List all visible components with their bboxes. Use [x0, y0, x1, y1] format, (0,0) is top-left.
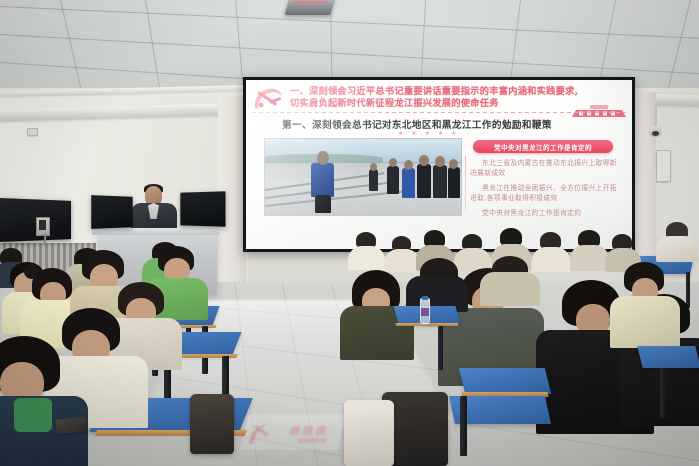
smartphone-on-desk [55, 416, 87, 434]
desk-leg [660, 368, 666, 418]
star-decoration: ★ ★ ★ ★ ★ [398, 130, 460, 137]
wall-sensor-left [27, 128, 38, 136]
desk-leg [686, 272, 690, 308]
backpack-white [344, 400, 394, 466]
photo-figure-main [311, 163, 334, 197]
lectern-top [92, 228, 220, 235]
floor-reflected-slide-logo [240, 414, 347, 450]
body-paragraph-2: 黑龙江在推动全面振兴、全方位振兴上开拓进取,各项事业取得积极成效 [470, 183, 620, 203]
ceiling-projector [285, 0, 336, 15]
slide-subtitle: 第一、深刻领会总书记对东北地区和黑龙江工作的勉励和鞭策 [282, 117, 612, 131]
backpack-left [190, 394, 234, 454]
desk-right-2 [459, 368, 551, 394]
water-bottle [420, 298, 430, 324]
desk-leg [438, 326, 443, 370]
slide-body-text: 东北三省及内蒙古在推动东北振兴上取得新进展新成效 黑龙江在推动全面振兴、全方位振… [470, 158, 620, 223]
projection-screen-frame: 一、深刻领会习近平总书记重要讲话重要指示的丰富内涵和实践要求, 切实肩负起新时代… [243, 77, 635, 252]
party-hammer-sickle-icon [251, 85, 285, 113]
projection-screen: 一、深刻领会习近平总书记重要讲话重要指示的丰富内涵和实践要求, 切实肩负起新时代… [246, 80, 632, 249]
tiananmen-graphic-icon [570, 104, 628, 117]
body-paragraph-3: 党中央对黑龙江的工作是肯定的 [470, 208, 620, 218]
student-body [656, 236, 698, 262]
podium-monitor-right [180, 191, 225, 226]
presentation-slide: 一、深刻领会习近平总书记重要讲话重要指示的丰富内涵和实践要求, 切实肩负起新时代… [246, 80, 632, 249]
podium-monitor-left [91, 195, 132, 229]
text-accent-bar [465, 156, 466, 212]
desk-right-4 [637, 346, 699, 368]
wall-camera [649, 126, 662, 137]
slide-badge: 党中央对黑龙江的工作是肯定的 [473, 140, 613, 153]
body-paragraph-1: 东北三省及内蒙古在推动东北振兴上取得新进展新成效 [470, 158, 620, 178]
slide-title: 一、深刻领会习近平总书记重要讲话重要指示的丰富内涵和实践要求, 切实肩负起新时代… [290, 86, 590, 109]
wall-speaker-right [656, 150, 671, 182]
slide-photograph [264, 138, 462, 216]
camera-arm [655, 106, 657, 128]
slide-title-line1: 一、深刻领会习近平总书记重要讲话重要指示的丰富内涵和实践要求, [290, 86, 590, 98]
title-divider [252, 112, 626, 113]
desk-leg [460, 396, 467, 456]
wall-control-box [36, 217, 50, 236]
slide-title-line2: 切实肩负起新时代新征程龙江振兴发展的使命任务 [290, 98, 590, 110]
lecture-hall-photo: 一、深刻领会习近平总书记重要讲话重要指示的丰富内涵和实践要求, 切实肩负起新时代… [0, 0, 699, 466]
